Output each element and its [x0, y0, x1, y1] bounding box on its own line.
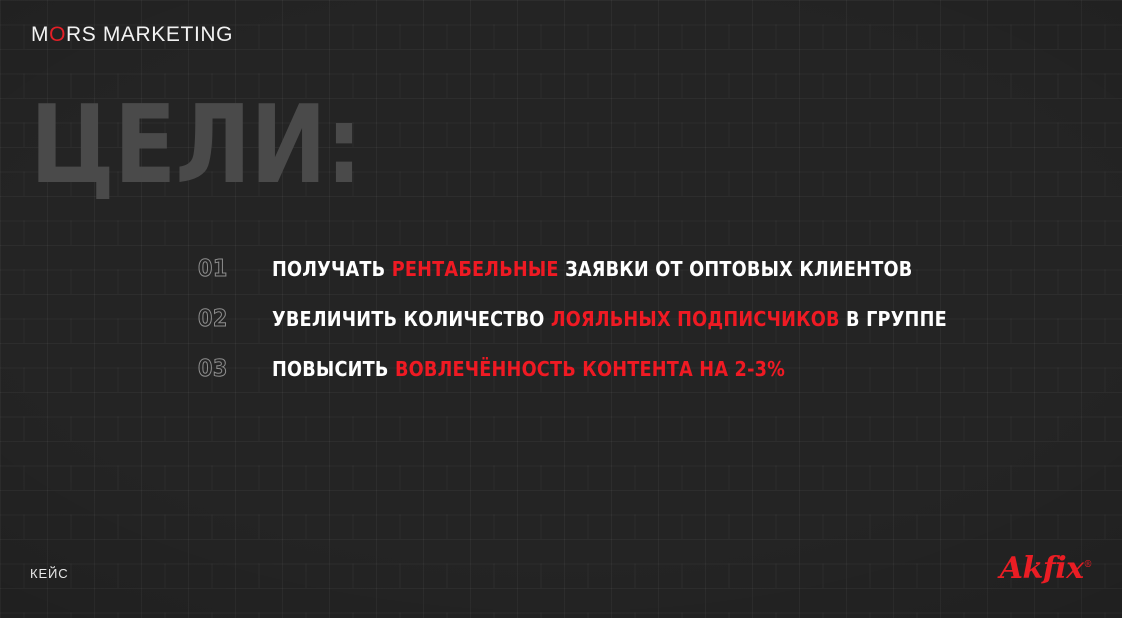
presentation-slide: MORS MARKETING ЦЕЛИ: 01 ПОЛУЧАТЬ РЕНТАБЕ… [0, 0, 1122, 618]
goal-text-highlight: РЕНТАБЕЛЬНЫЕ [392, 257, 559, 281]
goals-list: 01 ПОЛУЧАТЬ РЕНТАБЕЛЬНЫЕ ЗАЯВКИ ОТ ОПТОВ… [198, 258, 1098, 408]
brand-logo-part2: RS MARKETING [66, 23, 233, 46]
brand-logo-highlight-letter: O [49, 23, 66, 46]
goal-text-highlight: ВОВЛЕЧЁННОСТЬ КОНТЕНТА НА 2-3% [395, 357, 785, 381]
goal-text-segment: ПОВЫСИТЬ [272, 357, 395, 381]
goal-text-01: ПОЛУЧАТЬ РЕНТАБЕЛЬНЫЕ ЗАЯВКИ ОТ ОПТОВЫХ … [272, 259, 912, 280]
registered-trademark-icon: ® [1084, 560, 1093, 570]
client-logo-akfix: Akfix® [1000, 554, 1092, 584]
brand-logo-part1: M [31, 23, 49, 46]
footer-label: КЕЙС [30, 567, 69, 580]
goal-text-highlight: ЛОЯЛЬНЫХ ПОДПИСЧИКОВ [551, 307, 840, 331]
goal-text-segment: В ГРУППЕ [840, 307, 947, 331]
goal-number-03: 03 [198, 358, 272, 381]
list-item: 02 УВЕЛИЧИТЬ КОЛИЧЕСТВО ЛОЯЛЬНЫХ ПОДПИСЧ… [198, 308, 1098, 358]
brand-logo: MORS MARKETING [31, 24, 233, 45]
page-title: ЦЕЛИ: [30, 96, 361, 195]
goal-number-02: 02 [198, 308, 272, 331]
goal-number-01: 01 [198, 258, 272, 281]
list-item: 03 ПОВЫСИТЬ ВОВЛЕЧЁННОСТЬ КОНТЕНТА НА 2-… [198, 358, 1098, 408]
goal-text-03: ПОВЫСИТЬ ВОВЛЕЧЁННОСТЬ КОНТЕНТА НА 2-3% [272, 359, 785, 380]
client-logo-text: Akfix [1000, 551, 1084, 586]
goal-text-segment: УВЕЛИЧИТЬ КОЛИЧЕСТВО [272, 307, 551, 331]
list-item: 01 ПОЛУЧАТЬ РЕНТАБЕЛЬНЫЕ ЗАЯВКИ ОТ ОПТОВ… [198, 258, 1098, 308]
goal-text-segment: ПОЛУЧАТЬ [272, 257, 392, 281]
goal-text-segment: ЗАЯВКИ ОТ ОПТОВЫХ КЛИЕНТОВ [559, 257, 913, 281]
goal-text-02: УВЕЛИЧИТЬ КОЛИЧЕСТВО ЛОЯЛЬНЫХ ПОДПИСЧИКО… [272, 309, 947, 330]
